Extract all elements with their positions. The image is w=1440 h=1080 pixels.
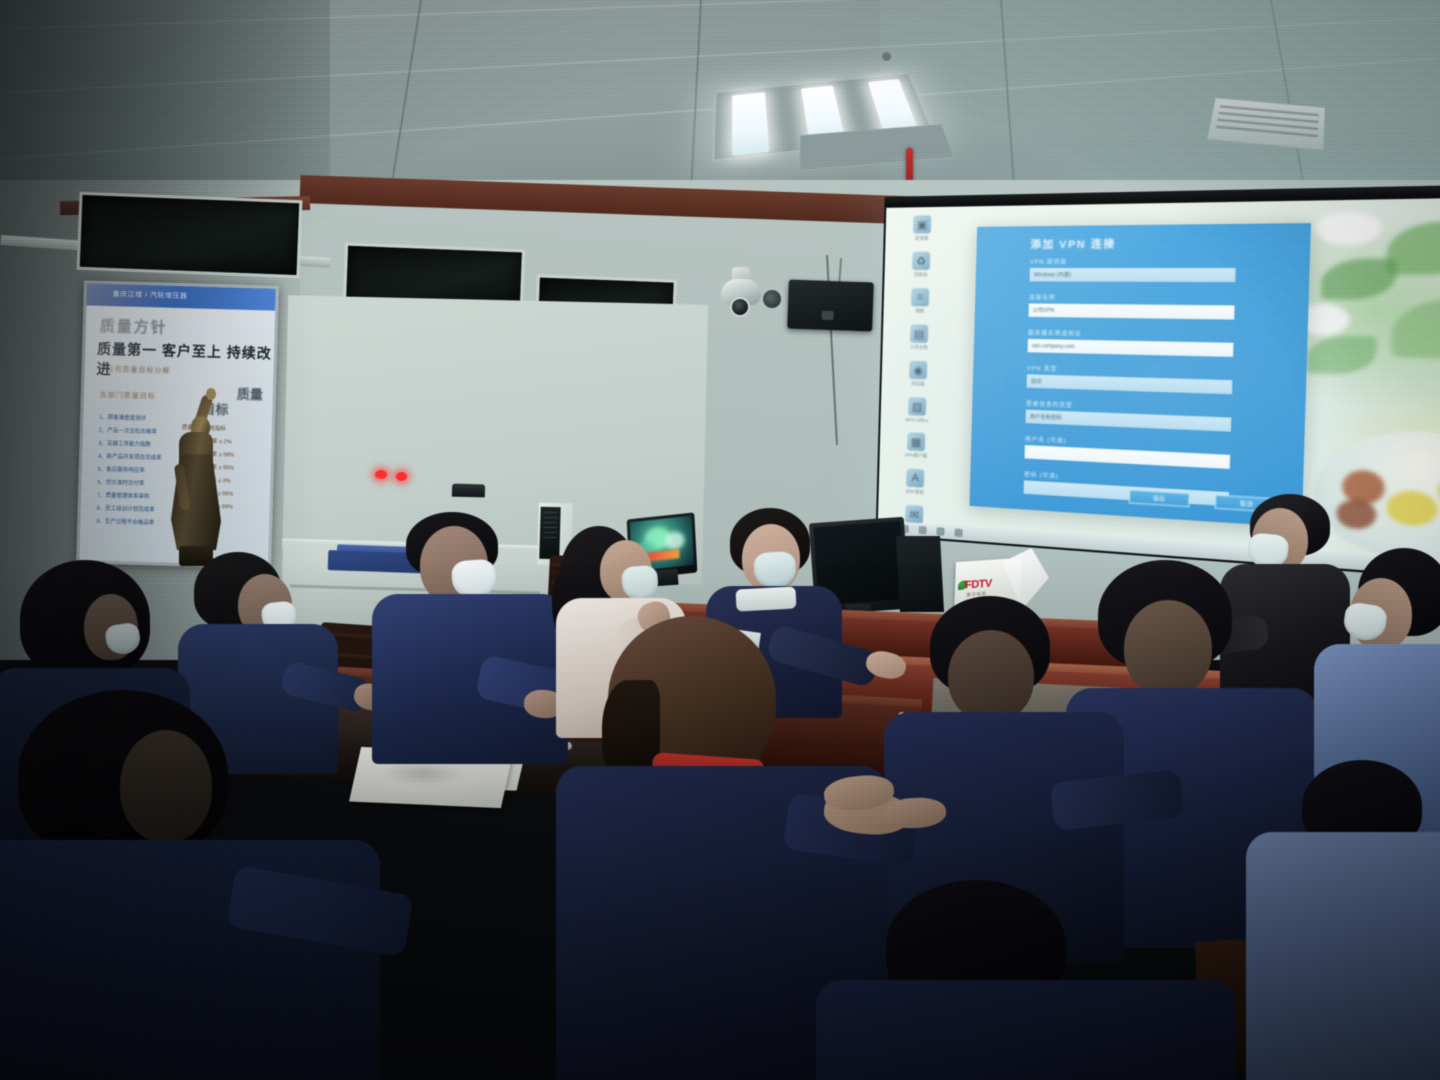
field-value: 用户名和密码: [1030, 413, 1062, 422]
wall-mounted-speaker: [787, 280, 874, 332]
icon-label: 工作文档: [910, 345, 928, 351]
ceiling-shadow-left: [0, 0, 330, 200]
pc-front-panel: [539, 507, 560, 560]
field-input[interactable]: vpn.company.com: [1027, 339, 1233, 357]
field-input[interactable]: 自动: [1026, 374, 1232, 394]
connection-name-field[interactable]: 连接名称 公司VPN: [1028, 293, 1235, 320]
transom-window-1: [77, 192, 303, 279]
poster-subheading-1: 公司质量目标分解: [106, 364, 170, 376]
folder-icon[interactable]: ▤ 工作文档: [888, 324, 950, 351]
icon-glyph: ▧: [908, 397, 926, 416]
network-icon[interactable]: ⌗ 网络: [889, 288, 951, 315]
ptz-dome-security-camera: [718, 267, 764, 323]
red-led-2: [396, 472, 407, 481]
field-value: 自动: [1031, 377, 1042, 385]
erp-icon[interactable]: A ERP系统: [884, 467, 946, 497]
field-label: VPN 提供商: [1030, 257, 1236, 266]
poster-subheading-2: 各部门质量目标: [100, 390, 156, 402]
icon-label: 此电脑: [915, 236, 929, 242]
field-value: 公司VPN: [1033, 307, 1055, 315]
icon-glyph: ♻: [912, 252, 930, 270]
second-monitor: [896, 536, 944, 612]
icon-label: VPN客户端: [905, 452, 928, 459]
desktop-icon-column[interactable]: ▣ 此电脑 ♻ 回收站 ⌗ 网络 ▤ 工作文档 ◉ 浏览器: [882, 211, 956, 523]
vpn-client-icon[interactable]: ▦ VPN客户端: [885, 431, 947, 460]
field-value: vpn.company.com: [1032, 343, 1075, 350]
browser-taskbar-icon[interactable]: [954, 528, 962, 537]
projected-desktop: ▣ 此电脑 ♻ 回收站 ⌗ 网络 ▤ 工作文档 ◉ 浏览器: [878, 197, 1440, 581]
username-field[interactable]: 用户名 (可选): [1024, 435, 1230, 469]
explorer-icon[interactable]: [936, 527, 944, 536]
red-led-1: [375, 470, 387, 479]
wall-plate: [763, 290, 781, 308]
field-value: Windows (内置): [1034, 271, 1071, 278]
taskview-icon[interactable]: [919, 526, 927, 535]
vpn-provider-field[interactable]: VPN 提供商 Windows (内置): [1029, 257, 1236, 282]
icon-glyph: ◉: [909, 361, 927, 380]
my-computer-icon[interactable]: ▣ 此电脑: [891, 215, 953, 242]
vpn-type-field[interactable]: VPN 类型 自动: [1026, 364, 1232, 395]
icon-label: WPS Office: [905, 417, 928, 423]
field-input[interactable]: 公司VPN: [1028, 303, 1234, 319]
wall-sensor-box: [452, 484, 485, 498]
recycle-bin-icon[interactable]: ♻ 回收站: [890, 252, 952, 279]
browser-icon[interactable]: ◉ 浏览器: [887, 360, 949, 388]
icon-glyph: ▦: [907, 432, 925, 451]
wallpaper-fruit-bowl: [1313, 427, 1440, 568]
poster-slogan: 质量第一 客户至上 持续改进: [96, 339, 275, 384]
icon-glyph: A: [906, 469, 924, 488]
projection-screen[interactable]: ▣ 此电脑 ♻ 回收站 ⌗ 网络 ▤ 工作文档 ◉ 浏览器: [876, 195, 1440, 584]
field-label: 连接名称: [1029, 293, 1235, 303]
icon-label: ERP系统: [906, 489, 924, 496]
poster-banner: 重庆江增 / 汽轮增压器: [86, 283, 276, 310]
icon-glyph: ⌗: [911, 288, 929, 306]
server-address-field[interactable]: 服务器名称或地址 vpn.company.com: [1027, 328, 1233, 357]
field-input[interactable]: Windows (内置): [1029, 268, 1235, 282]
icon-label: 浏览器: [911, 381, 924, 387]
save-button[interactable]: 保存: [1129, 490, 1190, 508]
fdtv-brand-label: FDTV: [965, 578, 992, 592]
fire-sprinkler-head: [882, 52, 891, 61]
camera-lens-icon: [730, 297, 750, 317]
bronze-statue-pointing: [165, 388, 227, 566]
poster-title: 质量方针: [99, 315, 168, 338]
dialog-title: 添加 VPN 连接: [1030, 235, 1116, 251]
wps-icon[interactable]: ▧ WPS Office: [886, 396, 948, 424]
icon-glyph: ▤: [910, 324, 928, 343]
icon-glyph: ▣: [913, 215, 931, 233]
signin-type-field[interactable]: 登录信息的类型 用户名和密码: [1025, 399, 1231, 432]
poster-goal-right: 质量: [237, 384, 264, 404]
conference-room-photo: 重庆江增 / 汽轮增压器 质量方针 质量第一 客户至上 持续改进 公司质量目标分…: [0, 0, 1440, 1080]
icon-label: 回收站: [914, 272, 928, 278]
icon-label: 网络: [915, 308, 924, 314]
vpn-settings-dialog[interactable]: 添加 VPN 连接 VPN 提供商 Windows (内置) 连接名称 公司VP…: [969, 223, 1311, 528]
